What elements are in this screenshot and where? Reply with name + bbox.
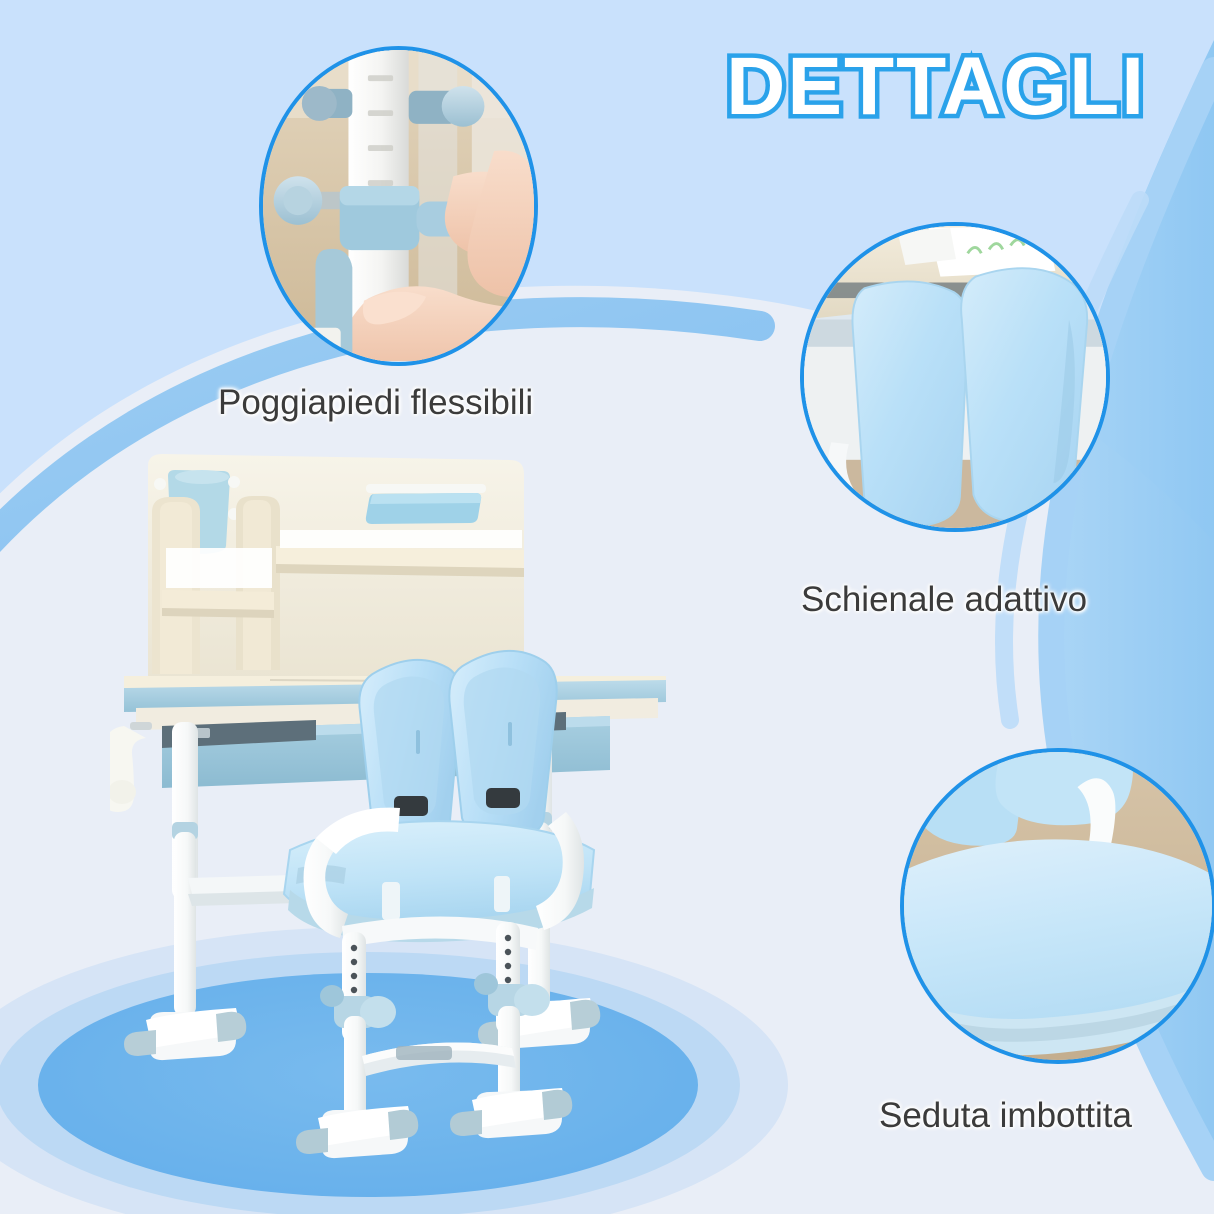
caption-seat: Seduta imbottita (879, 1096, 1132, 1136)
chair-foot-cap-right-front (450, 1110, 482, 1136)
desk-hutch (148, 454, 524, 684)
desk-and-chair (110, 440, 730, 1170)
chair-foot-cap-left-back (388, 1110, 418, 1140)
chair-foot-cap-left-front (296, 1128, 328, 1154)
desk-foot-cap-left-front (124, 1030, 156, 1056)
infographic-canvas: DETTAGLI (0, 0, 1214, 1214)
inset-seat-photo (900, 748, 1214, 1064)
backrest-cushion-left (852, 281, 967, 526)
inset-backrest-photo (800, 222, 1110, 532)
desk-foot-cap-right-back (570, 1000, 600, 1030)
product-illustration (110, 440, 730, 1170)
page-title: DETTAGLI (726, 46, 1146, 128)
caption-backrest: Schienale adattivo (801, 580, 1087, 620)
footrest-illustration (263, 50, 534, 361)
desk-foot-cap-left-back (216, 1012, 246, 1042)
backrest-clip-right (486, 788, 520, 808)
caption-footrest: Poggiapiedi flessibili (218, 383, 533, 423)
seat-illustration (904, 752, 1212, 1060)
chair-foot-cap-right-back (542, 1090, 572, 1120)
inset-footrest-photo (259, 46, 538, 366)
backrest-illustration (804, 226, 1106, 528)
